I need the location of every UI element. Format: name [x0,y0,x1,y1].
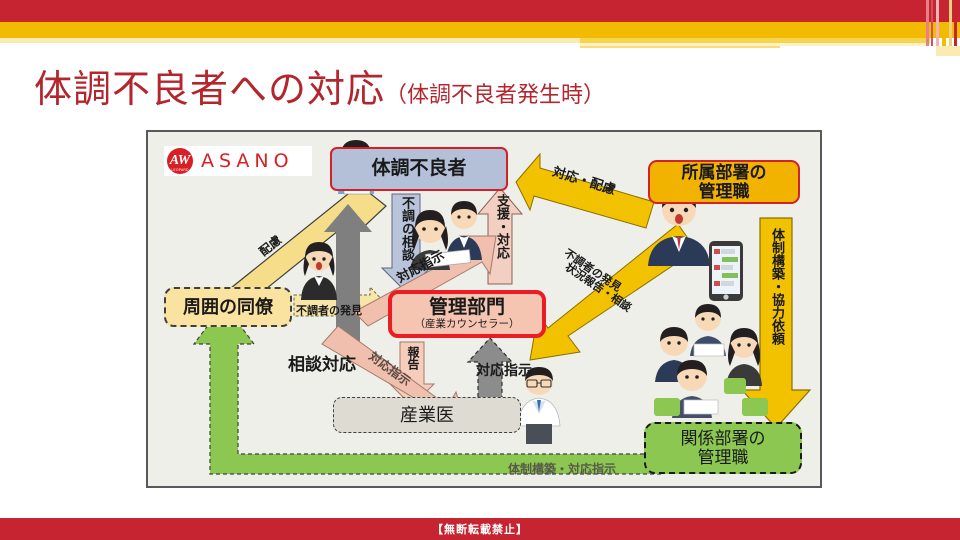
header-stripe-5 [942,22,946,46]
node-occupational-doctor[interactable]: 産業医 [333,397,521,433]
header-pale-band [0,38,580,43]
logo-wordmark: ASANO [201,150,294,172]
node-management-sublabel: （産業カウンセラー） [415,319,520,331]
header-stripe-3 [936,0,939,46]
header-stripe-2 [931,0,933,46]
illustration-colleague [296,240,342,302]
illustration-meeting-group [646,302,778,420]
node-related-dept-line2: 管理職 [698,448,749,467]
node-dept-manager[interactable]: 所属部署の 管理職 [648,160,800,204]
footer-bar: 【無断転載禁止】 [0,518,960,540]
header-red-band [0,0,960,22]
node-colleague[interactable]: 周囲の同僚 [164,287,292,327]
asano-mark-icon: AW LEOPARD [167,148,193,174]
arrow-label-report: 報告 [405,346,422,370]
node-dept-manager-line1: 所属部署の [682,163,767,182]
page-title: 体調不良者への対応（体調不良者発生時） [34,58,605,113]
arrow-label-consult: 不調の相談 [398,196,417,261]
flow-diagram: AW LEOPARD ASANO 体調不良者 周囲の同僚 管理部門 （産業カウン… [146,130,822,488]
header-stripe-4 [942,0,946,22]
arrow-label-system-build: 体制構築・協力依頼 [768,228,787,345]
node-dept-manager-line2: 管理職 [699,182,750,201]
node-related-dept-line1: 関係部署の [681,429,766,448]
asano-logo: AW LEOPARD ASANO [164,146,312,176]
node-sick-person[interactable]: 体調不良者 [330,147,508,191]
node-colleague-label: 周囲の同僚 [183,297,273,317]
header-stripe-6 [949,0,952,46]
node-sick-person-label: 体調不良者 [371,158,466,179]
node-related-dept-manager[interactable]: 関係部署の 管理職 [644,422,802,474]
header-pale-band-3 [580,46,780,48]
arrow-label-instruction-2: 対応指示 [476,360,532,380]
header-stripe-1 [926,0,929,46]
node-doctor-label: 産業医 [400,405,454,425]
node-management-label: 管理部門 [429,297,505,318]
header-corner-accent [936,46,960,56]
header-stripe-7 [954,0,957,46]
arrow-label-support: 支援・対応 [493,194,512,259]
slide-root: 体調不良者への対応（体調不良者発生時） [0,0,960,540]
node-management-dept[interactable]: 管理部門 （産業カウンセラー） [388,290,546,338]
header-gold-band [0,22,960,38]
page-title-main: 体調不良者への対応 [34,69,385,111]
arrow-label-discover: 不調者の発見 [296,302,362,318]
footer-note: 【無断転載禁止】 [432,521,528,537]
arrow-label-bottom-line: 体制構築・対応指示 [508,460,616,477]
illustration-smartphone [708,240,744,302]
arrow-respond-consider [516,154,654,228]
arrow-label-consult-response: 相談対応 [288,350,356,375]
page-title-sub: （体調不良者発生時） [385,82,605,107]
logo-mark-subtext: LEOPARD [167,168,193,172]
